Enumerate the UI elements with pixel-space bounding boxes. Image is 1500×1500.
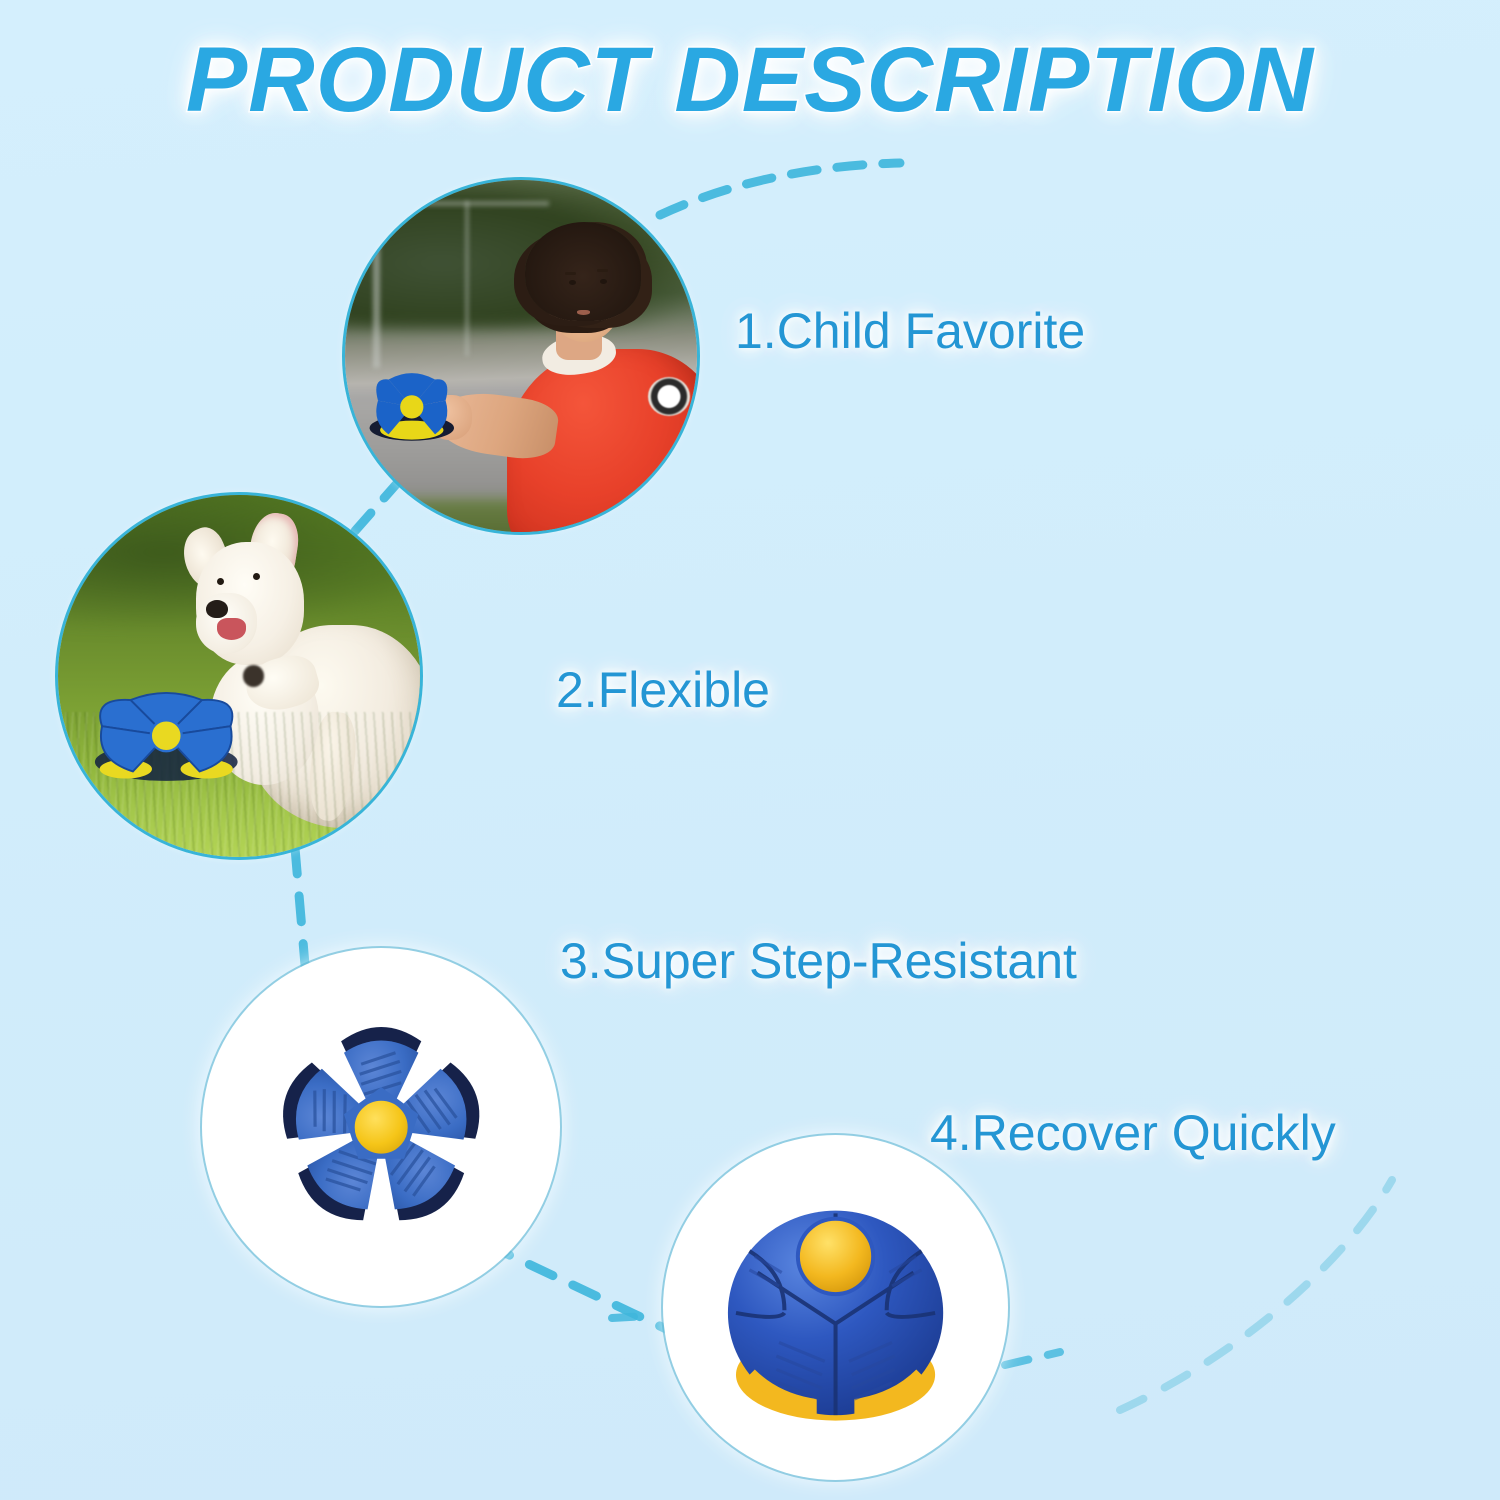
- feature-label-flexible: 2.Flexible: [556, 661, 770, 719]
- feature-label-child-favorite: 1.Child Favorite: [735, 302, 1085, 360]
- flat-disc-product: [238, 984, 524, 1270]
- disc-ball-in-hand: [359, 352, 465, 458]
- connector-dome-left-tick: [612, 1316, 648, 1318]
- shirt-logo: [648, 377, 690, 416]
- infographic-canvas: PRODUCT DESCRIPTION: [0, 0, 1500, 1500]
- disc-ball-on-grass: [83, 676, 250, 795]
- feature-image-flexible: [58, 495, 420, 857]
- connector-dome-right-tick: [1005, 1352, 1060, 1365]
- curly-hair: [525, 222, 641, 321]
- eyebrow-left: [565, 272, 576, 275]
- eye-left: [569, 280, 576, 285]
- fence-post: [465, 201, 469, 356]
- feature-label-step-resistant: 3.Super Step-Resistant: [560, 932, 1077, 990]
- eyebrow-right: [597, 269, 608, 272]
- feature-image-recover-quickly: [663, 1135, 1008, 1480]
- feature-image-step-resistant: [202, 948, 560, 1306]
- feature-image-child-favorite: [345, 180, 697, 532]
- page-title: PRODUCT DESCRIPTION: [0, 28, 1500, 133]
- dome-ball-product: [701, 1173, 970, 1442]
- feature-label-recover-quickly: 4.Recover Quickly: [930, 1104, 1336, 1162]
- fence: [373, 201, 549, 368]
- dog-nose: [206, 600, 228, 618]
- eye-right: [600, 279, 607, 284]
- dog-tongue: [217, 618, 246, 640]
- connector-right-sweep: [1120, 1180, 1392, 1410]
